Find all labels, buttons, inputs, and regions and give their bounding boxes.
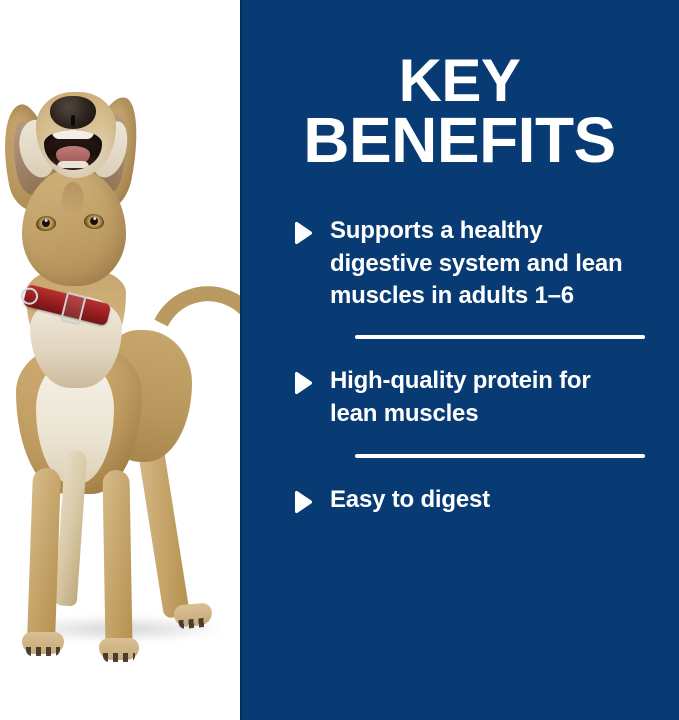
play-triangle-icon <box>292 490 314 514</box>
dog-photo <box>0 0 240 720</box>
benefit-divider-1 <box>355 335 645 339</box>
benefit-text-3: Easy to digest <box>330 484 490 517</box>
key-benefits-poster: KEY BENEFITS Supports a healthy digestiv… <box>0 0 679 720</box>
dog-nose <box>50 96 96 129</box>
benefit-item-2: High-quality protein for lean muscles <box>240 365 679 430</box>
play-triangle-icon <box>292 221 314 245</box>
dog-left-eye <box>35 215 56 232</box>
dog-upper-teeth <box>52 130 94 139</box>
benefits-list: Supports a healthy digestive system and … <box>240 215 679 517</box>
dog-back-right-paw <box>173 602 213 627</box>
dog-collar-ring <box>19 286 40 307</box>
dog-photo-panel <box>0 0 240 720</box>
benefit-text-2: High-quality protein for lean muscles <box>330 365 630 430</box>
play-triangle-icon <box>292 371 314 395</box>
dog-forehead-crease <box>62 182 84 216</box>
benefit-divider-2 <box>355 454 645 458</box>
benefit-text-1: Supports a healthy digestive system and … <box>330 215 630 313</box>
benefit-item-3: Easy to digest <box>240 484 679 517</box>
page-title-line-2: BENEFITS <box>262 110 657 171</box>
page-title-line-1: KEY <box>262 52 657 110</box>
dog-back-right-leg <box>136 435 190 619</box>
page-title: KEY BENEFITS <box>240 0 679 171</box>
key-benefits-panel: KEY BENEFITS Supports a healthy digestiv… <box>240 0 679 720</box>
dog-right-eye <box>83 213 104 230</box>
dog-front-right-paw <box>99 638 139 660</box>
dog-front-right-leg <box>102 470 132 650</box>
dog-lower-teeth <box>57 161 89 168</box>
dog-front-left-paw <box>22 632 64 654</box>
benefit-item-1: Supports a healthy digestive system and … <box>240 215 679 313</box>
